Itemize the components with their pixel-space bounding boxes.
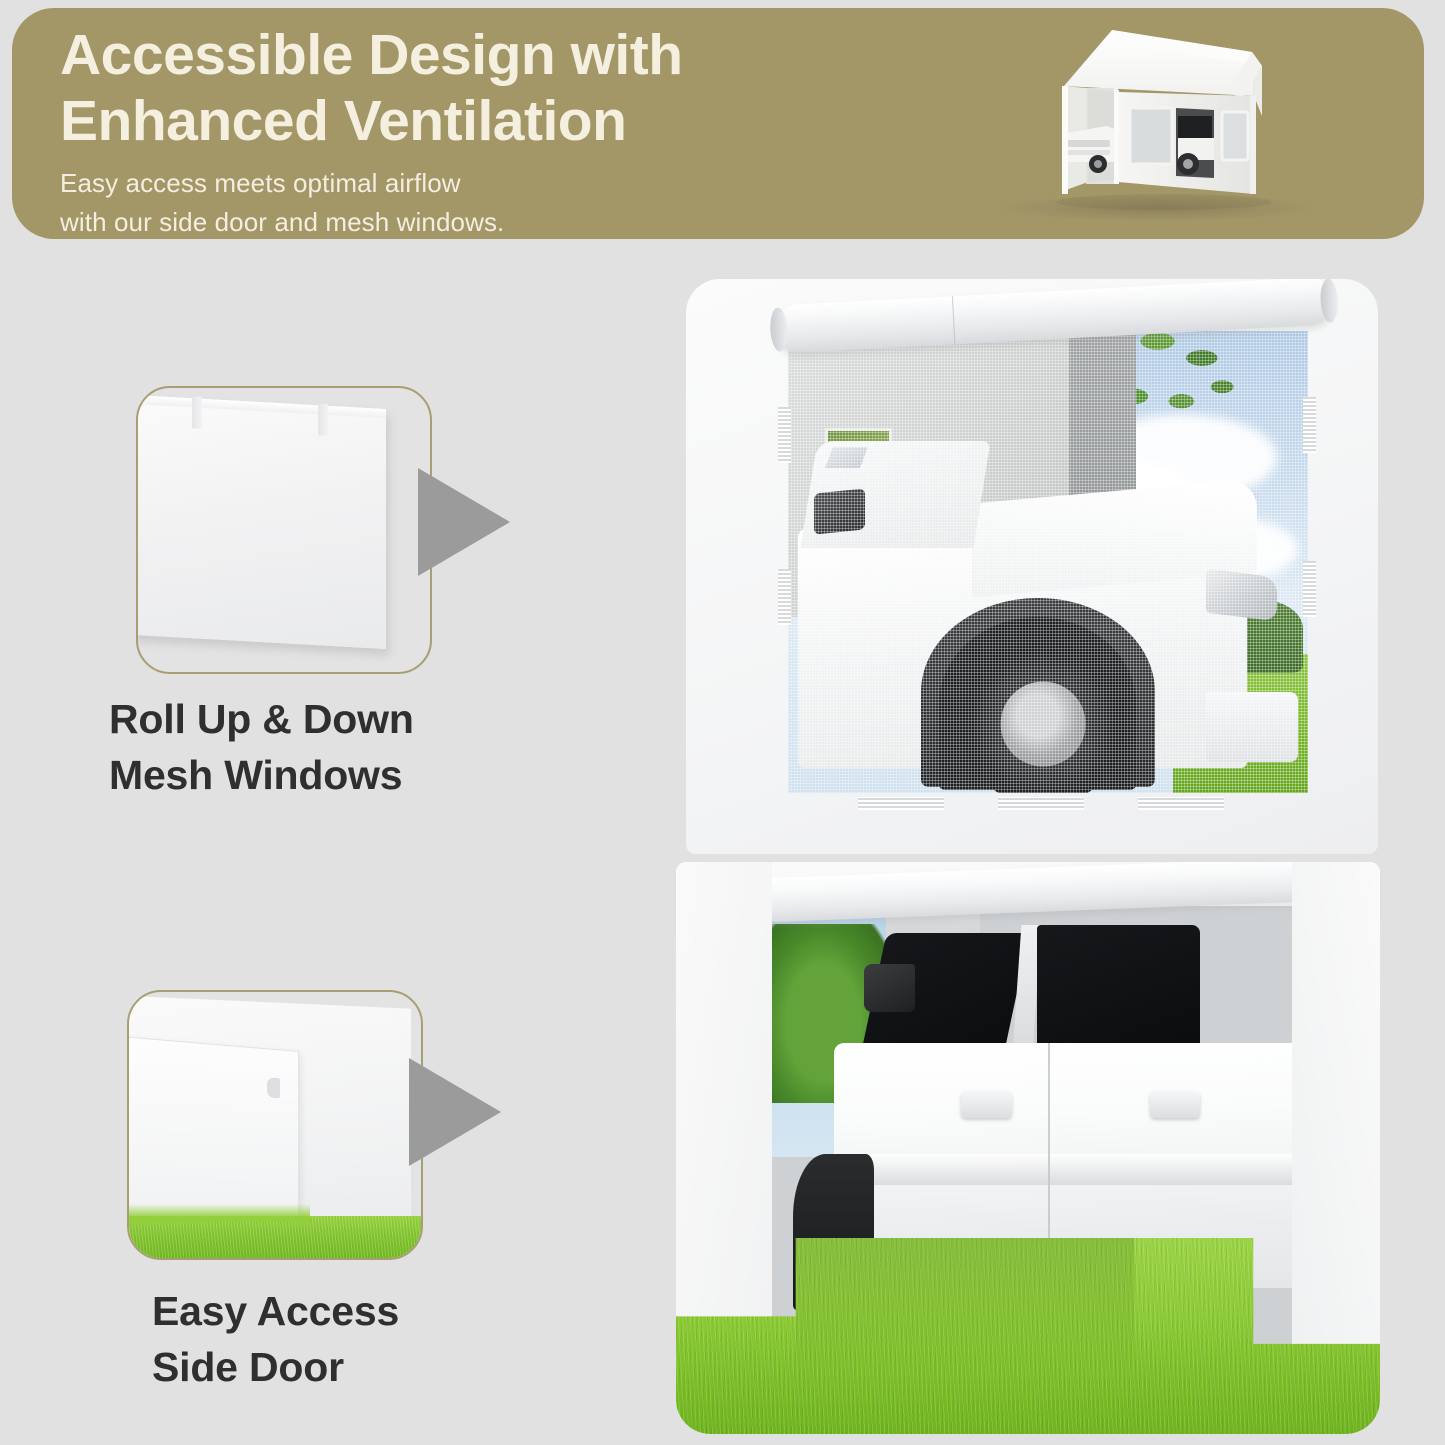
arrow-right-icon-side-door bbox=[409, 1058, 501, 1166]
door-handle-icon bbox=[267, 1077, 280, 1098]
caption-line-2: Side Door bbox=[152, 1340, 399, 1396]
panel-tab-right bbox=[318, 403, 328, 436]
roll-end-cap-right bbox=[1319, 279, 1338, 323]
carport-product-image bbox=[978, 12, 1338, 237]
panel-top-edge bbox=[136, 395, 386, 418]
velcro-strap bbox=[778, 407, 791, 463]
rolled-mesh-panel-graphic bbox=[136, 395, 386, 649]
carport-shadow bbox=[1002, 195, 1312, 221]
feature-caption-mesh-window: Roll Up & Down Mesh Windows bbox=[109, 692, 414, 804]
roll-end-cap-left bbox=[769, 307, 788, 352]
feature-thumbnail-side-door[interactable] bbox=[127, 990, 423, 1260]
header-banner: Accessible Design with Enhanced Ventilat… bbox=[12, 8, 1424, 239]
header-text-block: Accessible Design with Enhanced Ventilat… bbox=[60, 22, 880, 239]
truck-tire bbox=[961, 642, 1124, 793]
truck-body-crease bbox=[834, 1154, 1292, 1186]
grass-shadow bbox=[796, 1238, 1134, 1434]
truck-door-handle bbox=[1150, 1091, 1201, 1119]
truck-side-mirror bbox=[864, 964, 915, 1011]
caption-line-1: Roll Up & Down bbox=[109, 692, 414, 748]
truck-wheel-rim bbox=[1001, 681, 1086, 766]
panel-tab-left bbox=[192, 396, 202, 429]
velcro-strap bbox=[778, 569, 791, 625]
velcro-strap bbox=[1138, 797, 1224, 810]
feature-thumbnail-mesh-window[interactable] bbox=[136, 386, 432, 674]
truck-bumper bbox=[1206, 692, 1298, 761]
photo-side-door-open bbox=[676, 862, 1380, 1434]
header-title-line-1: Accessible Design with bbox=[60, 22, 880, 88]
truck-door-handle bbox=[961, 1091, 1012, 1119]
truck-headlight bbox=[1206, 569, 1277, 622]
velcro-strap bbox=[1303, 397, 1316, 453]
header-subtitle-line-1: Easy access meets optimal airflow bbox=[60, 164, 880, 203]
truck-rear-window bbox=[1037, 925, 1200, 1051]
truck-window-glass bbox=[824, 448, 867, 469]
truck-side-mirror bbox=[814, 489, 865, 535]
header-title-line-2: Enhanced Ventilation bbox=[60, 88, 880, 154]
arrow-right-icon-mesh-window bbox=[418, 468, 510, 576]
velcro-strap bbox=[1303, 561, 1316, 617]
header-subtitle-line-2: with our side door and mesh windows. bbox=[60, 203, 880, 239]
caption-line-1: Easy Access bbox=[152, 1284, 399, 1340]
feature-caption-side-door: Easy Access Side Door bbox=[152, 1284, 399, 1396]
velcro-strap bbox=[858, 797, 944, 810]
mesh-window-opening bbox=[788, 331, 1308, 793]
caption-line-2: Mesh Windows bbox=[109, 748, 414, 804]
truck-front-graphic bbox=[798, 479, 1308, 793]
photo-mesh-window-open bbox=[686, 279, 1378, 854]
grass-strip-graphic bbox=[129, 1216, 421, 1258]
velcro-strap bbox=[998, 797, 1084, 810]
